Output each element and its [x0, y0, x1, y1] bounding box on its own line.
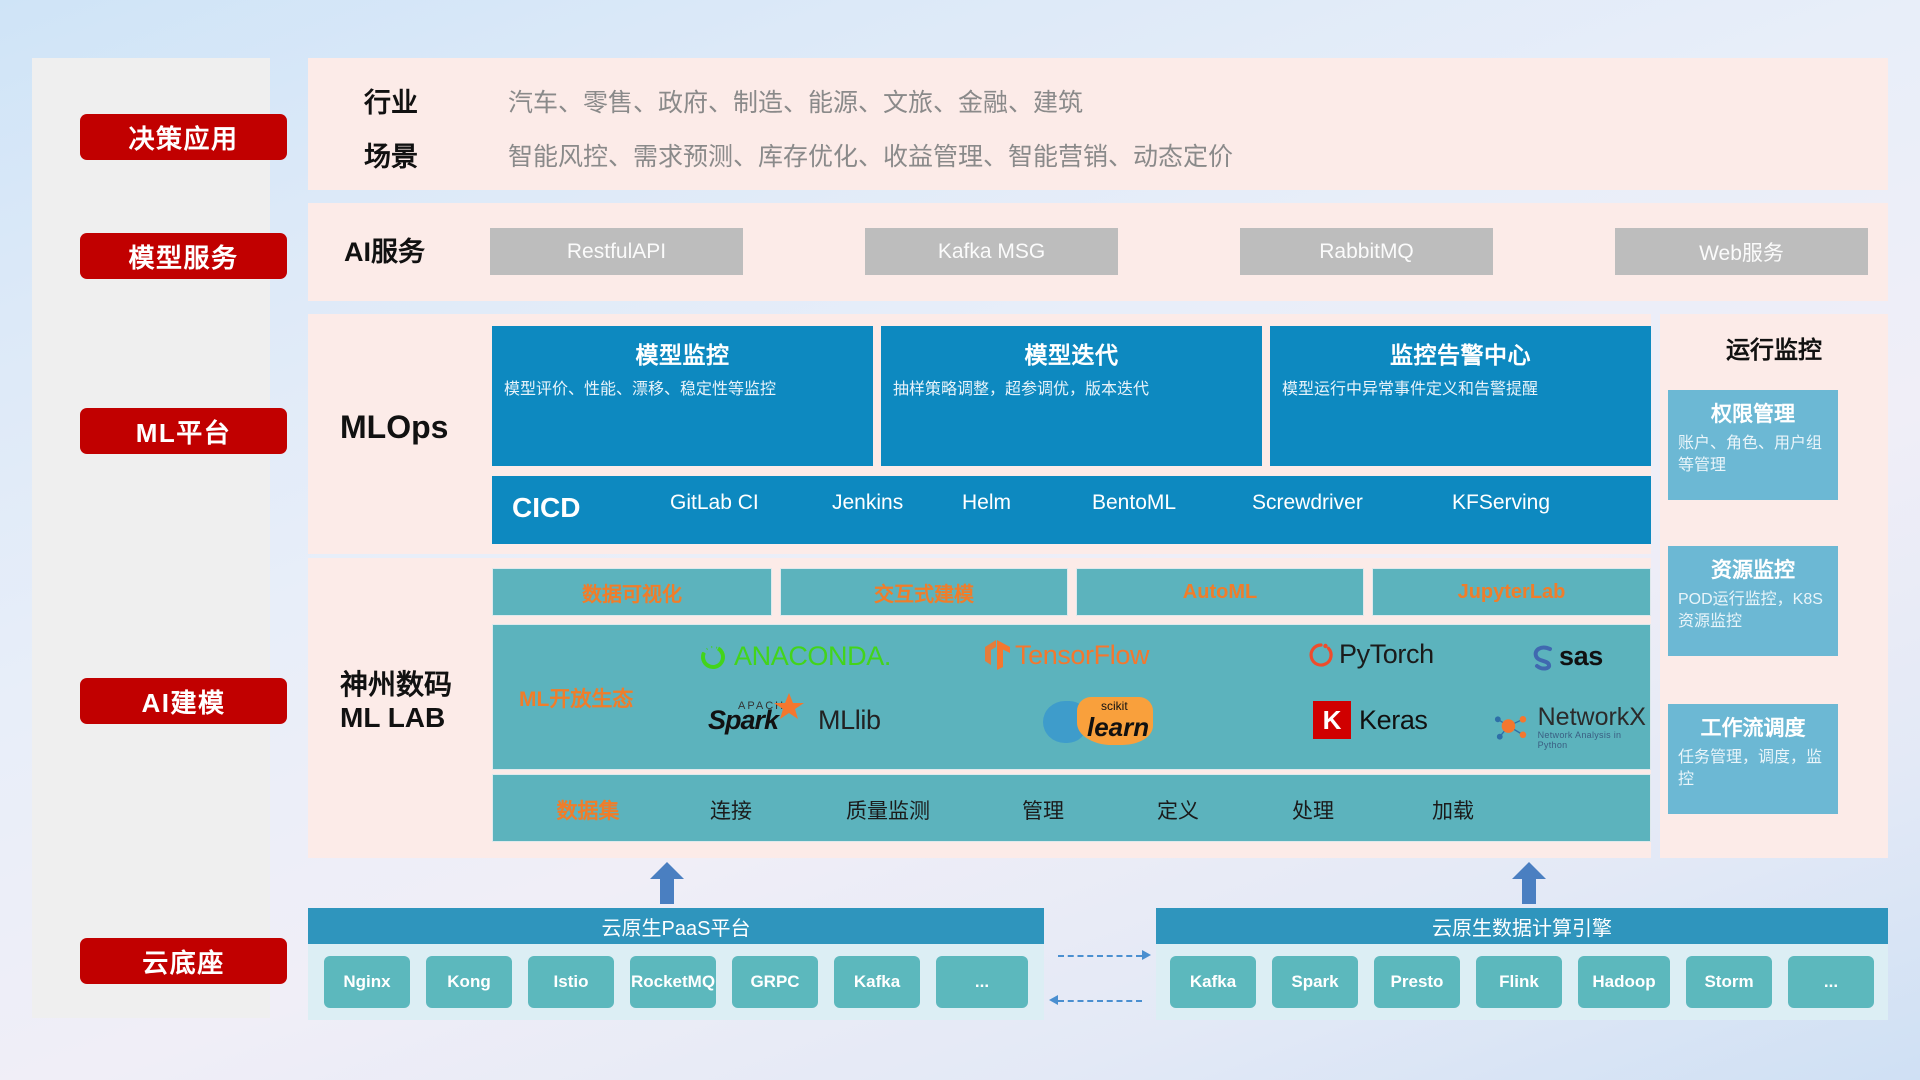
- anaconda-logo: ANACONDA.: [698, 641, 891, 672]
- up-arrow-paas: [650, 862, 684, 904]
- card-title: 资源监控: [1678, 554, 1828, 584]
- monitoring-card-workflow[interactable]: 工作流调度 任务管理，调度，监控: [1668, 704, 1838, 814]
- chip-label: Istio: [554, 972, 589, 992]
- ml-ecosystem-box: ML开放生态 ANACONDA. TensorFlow: [492, 624, 1651, 770]
- model-service-panel: AI服务 RestfulAPI Kafka MSG RabbitMQ Web服务: [308, 203, 1888, 301]
- dataset-bar: 数据集 连接 质量监测 管理 定义 处理 加载: [492, 774, 1651, 842]
- engine-chip-kafka[interactable]: Kafka: [1170, 956, 1256, 1008]
- keras-wordmark: Keras: [1359, 705, 1428, 736]
- lab-tab-data-visualization[interactable]: 数据可视化: [492, 568, 772, 616]
- scikit-text: scikit: [1101, 699, 1128, 713]
- chip-label: Flink: [1499, 972, 1539, 992]
- lab-tab-label: AutoML: [1183, 581, 1257, 604]
- data-engine-chip-strip: Kafka Spark Presto Flink Hadoop Storm ..…: [1156, 944, 1888, 1020]
- service-chip-kafka-msg[interactable]: Kafka MSG: [865, 228, 1118, 275]
- dataset-item-define[interactable]: 定义: [1118, 795, 1238, 825]
- decision-app-panel: 行业 汽车、零售、政府、制造、能源、文旅、金融、建筑 场景 智能风控、需求预测、…: [308, 58, 1888, 190]
- dataset-item-process[interactable]: 处理: [1253, 795, 1373, 825]
- cicd-item-helm[interactable]: Helm: [962, 488, 1082, 518]
- keras-mark-letter: K: [1323, 705, 1342, 736]
- mlops-label: MLOps: [340, 409, 448, 447]
- card-desc: 抽样策略调整，超参调优，版本迭代: [893, 379, 1250, 402]
- networkx-tagline: Network Analysis in Python: [1538, 730, 1650, 750]
- layer-label: 云底座: [142, 943, 225, 980]
- engine-chip-presto[interactable]: Presto: [1374, 956, 1460, 1008]
- card-desc: 模型运行中异常事件定义和告警提醒: [1282, 379, 1639, 402]
- ml-ecosystem-label: ML开放生态: [519, 683, 633, 713]
- card-title: 模型迭代: [893, 336, 1250, 370]
- monitoring-title: 运行监控: [1660, 330, 1888, 365]
- chip-label: Kong: [447, 972, 490, 992]
- layer-chip-decision-app[interactable]: 决策应用: [80, 114, 287, 160]
- spark-mark: [772, 691, 806, 721]
- paas-chip-rocketmq[interactable]: RocketMQ: [630, 956, 716, 1008]
- layer-label: AI建模: [141, 683, 225, 720]
- scenario-value: 智能风控、需求预测、库存优化、收益管理、智能营销、动态定价: [508, 137, 1233, 173]
- networkx-mark: [1493, 710, 1532, 746]
- connector-arrowhead-left: [1049, 995, 1058, 1005]
- tensorflow-mark: [983, 639, 1013, 671]
- engine-chip-flink[interactable]: Flink: [1476, 956, 1562, 1008]
- ai-service-label: AI服务: [344, 237, 425, 269]
- sas-wordmark: sas: [1559, 641, 1603, 672]
- chip-label: Nginx: [343, 972, 390, 992]
- data-engine-header: 云原生数据计算引擎: [1156, 908, 1888, 944]
- industry-value: 汽车、零售、政府、制造、能源、文旅、金融、建筑: [508, 83, 1083, 119]
- service-chip-label: Kafka MSG: [938, 240, 1045, 264]
- sas-logo: sas: [1528, 641, 1603, 672]
- service-chip-label: RestfulAPI: [567, 240, 666, 264]
- mllab-label: 神州数码 ML LAB: [340, 668, 452, 734]
- layer-rail: 决策应用 模型服务 ML平台 AI建模 云底座: [32, 58, 270, 1018]
- paas-chip-istio[interactable]: Istio: [528, 956, 614, 1008]
- dataset-item-load[interactable]: 加载: [1393, 795, 1513, 825]
- chip-label: RocketMQ: [631, 972, 715, 992]
- service-chip-label: Web服务: [1699, 237, 1784, 267]
- chip-label: Storm: [1704, 972, 1753, 992]
- lab-tab-jupyterlab[interactable]: JupyterLab: [1372, 568, 1651, 616]
- layer-label: 模型服务: [128, 238, 238, 275]
- dataset-heading: 数据集: [513, 795, 663, 825]
- mlops-card-model-iteration[interactable]: 模型迭代 抽样策略调整，超参调优，版本迭代: [881, 326, 1262, 466]
- dataset-item-manage[interactable]: 管理: [983, 795, 1103, 825]
- service-chip-label: RabbitMQ: [1319, 240, 1414, 264]
- connector-arrow-right: [1058, 955, 1142, 957]
- mlops-card-model-monitor[interactable]: 模型监控 模型评价、性能、漂移、稳定性等监控: [492, 326, 873, 466]
- layer-chip-ml-platform[interactable]: ML平台: [80, 408, 287, 454]
- anaconda-mark: [698, 642, 728, 672]
- connector-arrowhead-right: [1142, 950, 1151, 960]
- chip-label: GRPC: [750, 972, 799, 992]
- monitoring-card-permission[interactable]: 权限管理 账户、角色、用户组等管理: [1668, 390, 1838, 500]
- paas-chip-kong[interactable]: Kong: [426, 956, 512, 1008]
- tensorflow-wordmark: TensorFlow: [1015, 640, 1149, 671]
- industry-label: 行业: [364, 81, 418, 120]
- paas-header: 云原生PaaS平台: [308, 908, 1044, 944]
- runtime-monitoring-panel: 运行监控 权限管理 账户、角色、用户组等管理 资源监控 POD运行监控，K8S资…: [1660, 314, 1888, 858]
- service-chip-restfulapi[interactable]: RestfulAPI: [490, 228, 743, 275]
- keras-logo: K Keras: [1313, 701, 1428, 739]
- learn-text: learn: [1087, 712, 1149, 743]
- mlops-card-alert-center[interactable]: 监控告警中心 模型运行中异常事件定义和告警提醒: [1270, 326, 1651, 466]
- lab-tab-label: 交互式建模: [874, 578, 974, 607]
- card-desc: POD运行监控，K8S资源监控: [1678, 589, 1828, 634]
- paas-chip-kafka[interactable]: Kafka: [834, 956, 920, 1008]
- chip-label: Spark: [1291, 972, 1338, 992]
- engine-chip-storm[interactable]: Storm: [1686, 956, 1772, 1008]
- cicd-item-screwdriver[interactable]: Screwdriver: [1252, 488, 1370, 518]
- card-title: 监控告警中心: [1282, 336, 1639, 370]
- chip-label: Hadoop: [1592, 972, 1655, 992]
- keras-mark: K: [1313, 701, 1351, 739]
- cicd-item-gitlab-ci[interactable]: GitLab CI: [670, 488, 790, 518]
- engine-chip-hadoop[interactable]: Hadoop: [1578, 956, 1670, 1008]
- chip-label: ...: [975, 972, 989, 992]
- paas-chip-strip: Nginx Kong Istio RocketMQ GRPC Kafka ...: [308, 944, 1044, 1020]
- paas-chip-grpc[interactable]: GRPC: [732, 956, 818, 1008]
- monitoring-card-resource[interactable]: 资源监控 POD运行监控，K8S资源监控: [1668, 546, 1838, 656]
- layer-chip-ai-modeling[interactable]: AI建模: [80, 678, 287, 724]
- lab-tab-interactive-modeling[interactable]: 交互式建模: [780, 568, 1068, 616]
- card-desc: 模型评价、性能、漂移、稳定性等监控: [504, 379, 861, 402]
- spark-mllib-logo: APACHE Spark MLlib: [708, 705, 881, 736]
- ai-modeling-panel: 神州数码 ML LAB 数据可视化 交互式建模 AutoML JupyterLa…: [308, 558, 1651, 858]
- networkx-wordmark: NetworkX: [1538, 705, 1650, 730]
- pytorch-logo: PyTorch: [1308, 639, 1434, 670]
- chip-label: Presto: [1391, 972, 1444, 992]
- layer-label: 决策应用: [128, 119, 238, 156]
- cicd-bar: CICD GitLab CI Jenkins Helm BentoML Scre…: [492, 476, 1651, 544]
- dataset-item-connect[interactable]: 连接: [671, 795, 791, 825]
- card-title: 工作流调度: [1678, 712, 1828, 742]
- pytorch-mark: [1308, 640, 1334, 670]
- engine-chip-more[interactable]: ...: [1788, 956, 1874, 1008]
- card-title: 权限管理: [1678, 398, 1828, 428]
- sas-mark: [1528, 642, 1558, 672]
- card-title: 模型监控: [504, 336, 861, 370]
- engine-chip-spark[interactable]: Spark: [1272, 956, 1358, 1008]
- dataset-item-quality[interactable]: 质量监测: [813, 795, 963, 825]
- tensorflow-logo: TensorFlow: [983, 639, 1149, 671]
- service-chip-web-service[interactable]: Web服务: [1615, 228, 1868, 275]
- cicd-item-kfserving[interactable]: KFServing: [1452, 488, 1562, 518]
- lab-tab-label: JupyterLab: [1458, 581, 1566, 604]
- up-arrow-data-engine: [1512, 862, 1546, 904]
- cicd-item-bentoml[interactable]: BentoML: [1092, 488, 1184, 518]
- cicd-item-jenkins[interactable]: Jenkins: [832, 488, 904, 518]
- anaconda-wordmark: ANACONDA.: [734, 641, 891, 672]
- paas-chip-nginx[interactable]: Nginx: [324, 956, 410, 1008]
- architecture-diagram: 决策应用 模型服务 ML平台 AI建模 云底座 行业 汽车、零售、政府、制造、能…: [0, 0, 1920, 1080]
- scenario-label: 场景: [364, 135, 418, 174]
- chip-label: Kafka: [1190, 972, 1236, 992]
- cicd-heading: CICD: [512, 488, 662, 529]
- service-chip-rabbitmq[interactable]: RabbitMQ: [1240, 228, 1493, 275]
- data-engine-header-label: 云原生数据计算引擎: [1432, 912, 1612, 941]
- lab-tab-automl[interactable]: AutoML: [1076, 568, 1364, 616]
- paas-chip-more[interactable]: ...: [936, 956, 1028, 1008]
- mlops-panel: MLOps 模型监控 模型评价、性能、漂移、稳定性等监控 模型迭代 抽样策略调整…: [308, 314, 1651, 554]
- lab-tab-label: 数据可视化: [582, 578, 682, 607]
- layer-chip-model-service[interactable]: 模型服务: [80, 233, 287, 279]
- chip-label: Kafka: [854, 972, 900, 992]
- layer-label: ML平台: [136, 413, 232, 450]
- pytorch-wordmark: PyTorch: [1339, 639, 1434, 670]
- mllib-wordmark: MLlib: [818, 705, 881, 736]
- card-desc: 任务管理，调度，监控: [1678, 747, 1828, 792]
- layer-chip-cloud-base[interactable]: 云底座: [80, 938, 287, 984]
- networkx-logo: NetworkX Network Analysis in Python: [1493, 705, 1650, 750]
- card-desc: 账户、角色、用户组等管理: [1678, 433, 1828, 478]
- connector-arrow-left: [1058, 1000, 1142, 1002]
- chip-label: ...: [1824, 972, 1838, 992]
- paas-header-label: 云原生PaaS平台: [602, 912, 751, 941]
